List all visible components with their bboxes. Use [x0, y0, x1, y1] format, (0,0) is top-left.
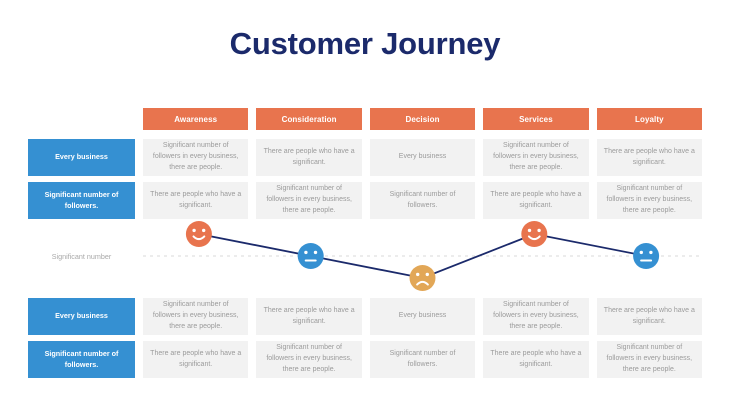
header-row-spacer	[28, 108, 135, 130]
table-row: Significant number of followers. There a…	[28, 341, 702, 378]
cell[interactable]: Significant number of followers in every…	[143, 139, 248, 176]
row-cells-top-1: Significant number of followers in every…	[143, 139, 702, 176]
cell[interactable]: There are people who have a significant.	[256, 298, 361, 335]
row-label-bottom-2[interactable]: Significant number of followers.	[28, 341, 135, 378]
cell[interactable]: Significant number of followers.	[370, 182, 475, 219]
row-cells-bottom-2: There are people who have a significant.…	[143, 341, 702, 378]
cell[interactable]: Significant number of followers in every…	[256, 182, 361, 219]
cell[interactable]: There are people who have a significant.	[597, 298, 702, 335]
face-neutral-icon[interactable]	[633, 243, 659, 269]
cell[interactable]: Significant number of followers in every…	[483, 298, 588, 335]
sentiment-row-label: Significant number	[28, 222, 135, 290]
row-label-top-2[interactable]: Significant number of followers.	[28, 182, 135, 219]
cell[interactable]: There are people who have a significant.	[256, 139, 361, 176]
table-row: Significant number of followers. There a…	[28, 182, 702, 219]
sentiment-plot	[143, 222, 702, 290]
row-label-bottom-1[interactable]: Every business	[28, 298, 135, 335]
table-row: Every business Significant number of fol…	[28, 139, 702, 176]
stage-header-consideration[interactable]: Consideration	[256, 108, 361, 130]
cell[interactable]: There are people who have a significant.	[597, 139, 702, 176]
cell[interactable]: There are people who have a significant.	[483, 341, 588, 378]
cell[interactable]: Significant number of followers in every…	[483, 139, 588, 176]
sentiment-chart-area	[143, 222, 702, 290]
stage-header-loyalty[interactable]: Loyalty	[597, 108, 702, 130]
stage-header-row: Awareness Consideration Decision Service…	[28, 108, 702, 130]
face-happy-icon[interactable]	[521, 221, 547, 247]
stage-header-awareness[interactable]: Awareness	[143, 108, 248, 130]
sentiment-chart: Significant number	[28, 222, 702, 290]
cell[interactable]: Significant number of followers in every…	[143, 298, 248, 335]
cell[interactable]: Every business	[370, 298, 475, 335]
journey-board: Awareness Consideration Decision Service…	[0, 0, 730, 411]
row-cells-top-2: There are people who have a significant.…	[143, 182, 702, 219]
cell[interactable]: Significant number of followers.	[370, 341, 475, 378]
face-happy-icon[interactable]	[186, 221, 212, 247]
cell[interactable]: There are people who have a significant.	[143, 182, 248, 219]
cell[interactable]: Significant number of followers in every…	[256, 341, 361, 378]
table-row: Every business Significant number of fol…	[28, 298, 702, 335]
cell[interactable]: Significant number of followers in every…	[597, 182, 702, 219]
row-label-top-1[interactable]: Every business	[28, 139, 135, 176]
slide: Customer Journey Awareness Consideration…	[0, 0, 730, 411]
cell[interactable]: There are people who have a significant.	[483, 182, 588, 219]
cell[interactable]: Every business	[370, 139, 475, 176]
row-cells-bottom-1: Significant number of followers in every…	[143, 298, 702, 335]
face-neutral-icon[interactable]	[298, 243, 324, 269]
stage-header-services[interactable]: Services	[483, 108, 588, 130]
stage-header-decision[interactable]: Decision	[370, 108, 475, 130]
stage-header-cells: Awareness Consideration Decision Service…	[143, 108, 702, 130]
cell[interactable]: Significant number of followers in every…	[597, 341, 702, 378]
cell[interactable]: There are people who have a significant.	[143, 341, 248, 378]
face-sad-icon[interactable]	[410, 265, 436, 291]
